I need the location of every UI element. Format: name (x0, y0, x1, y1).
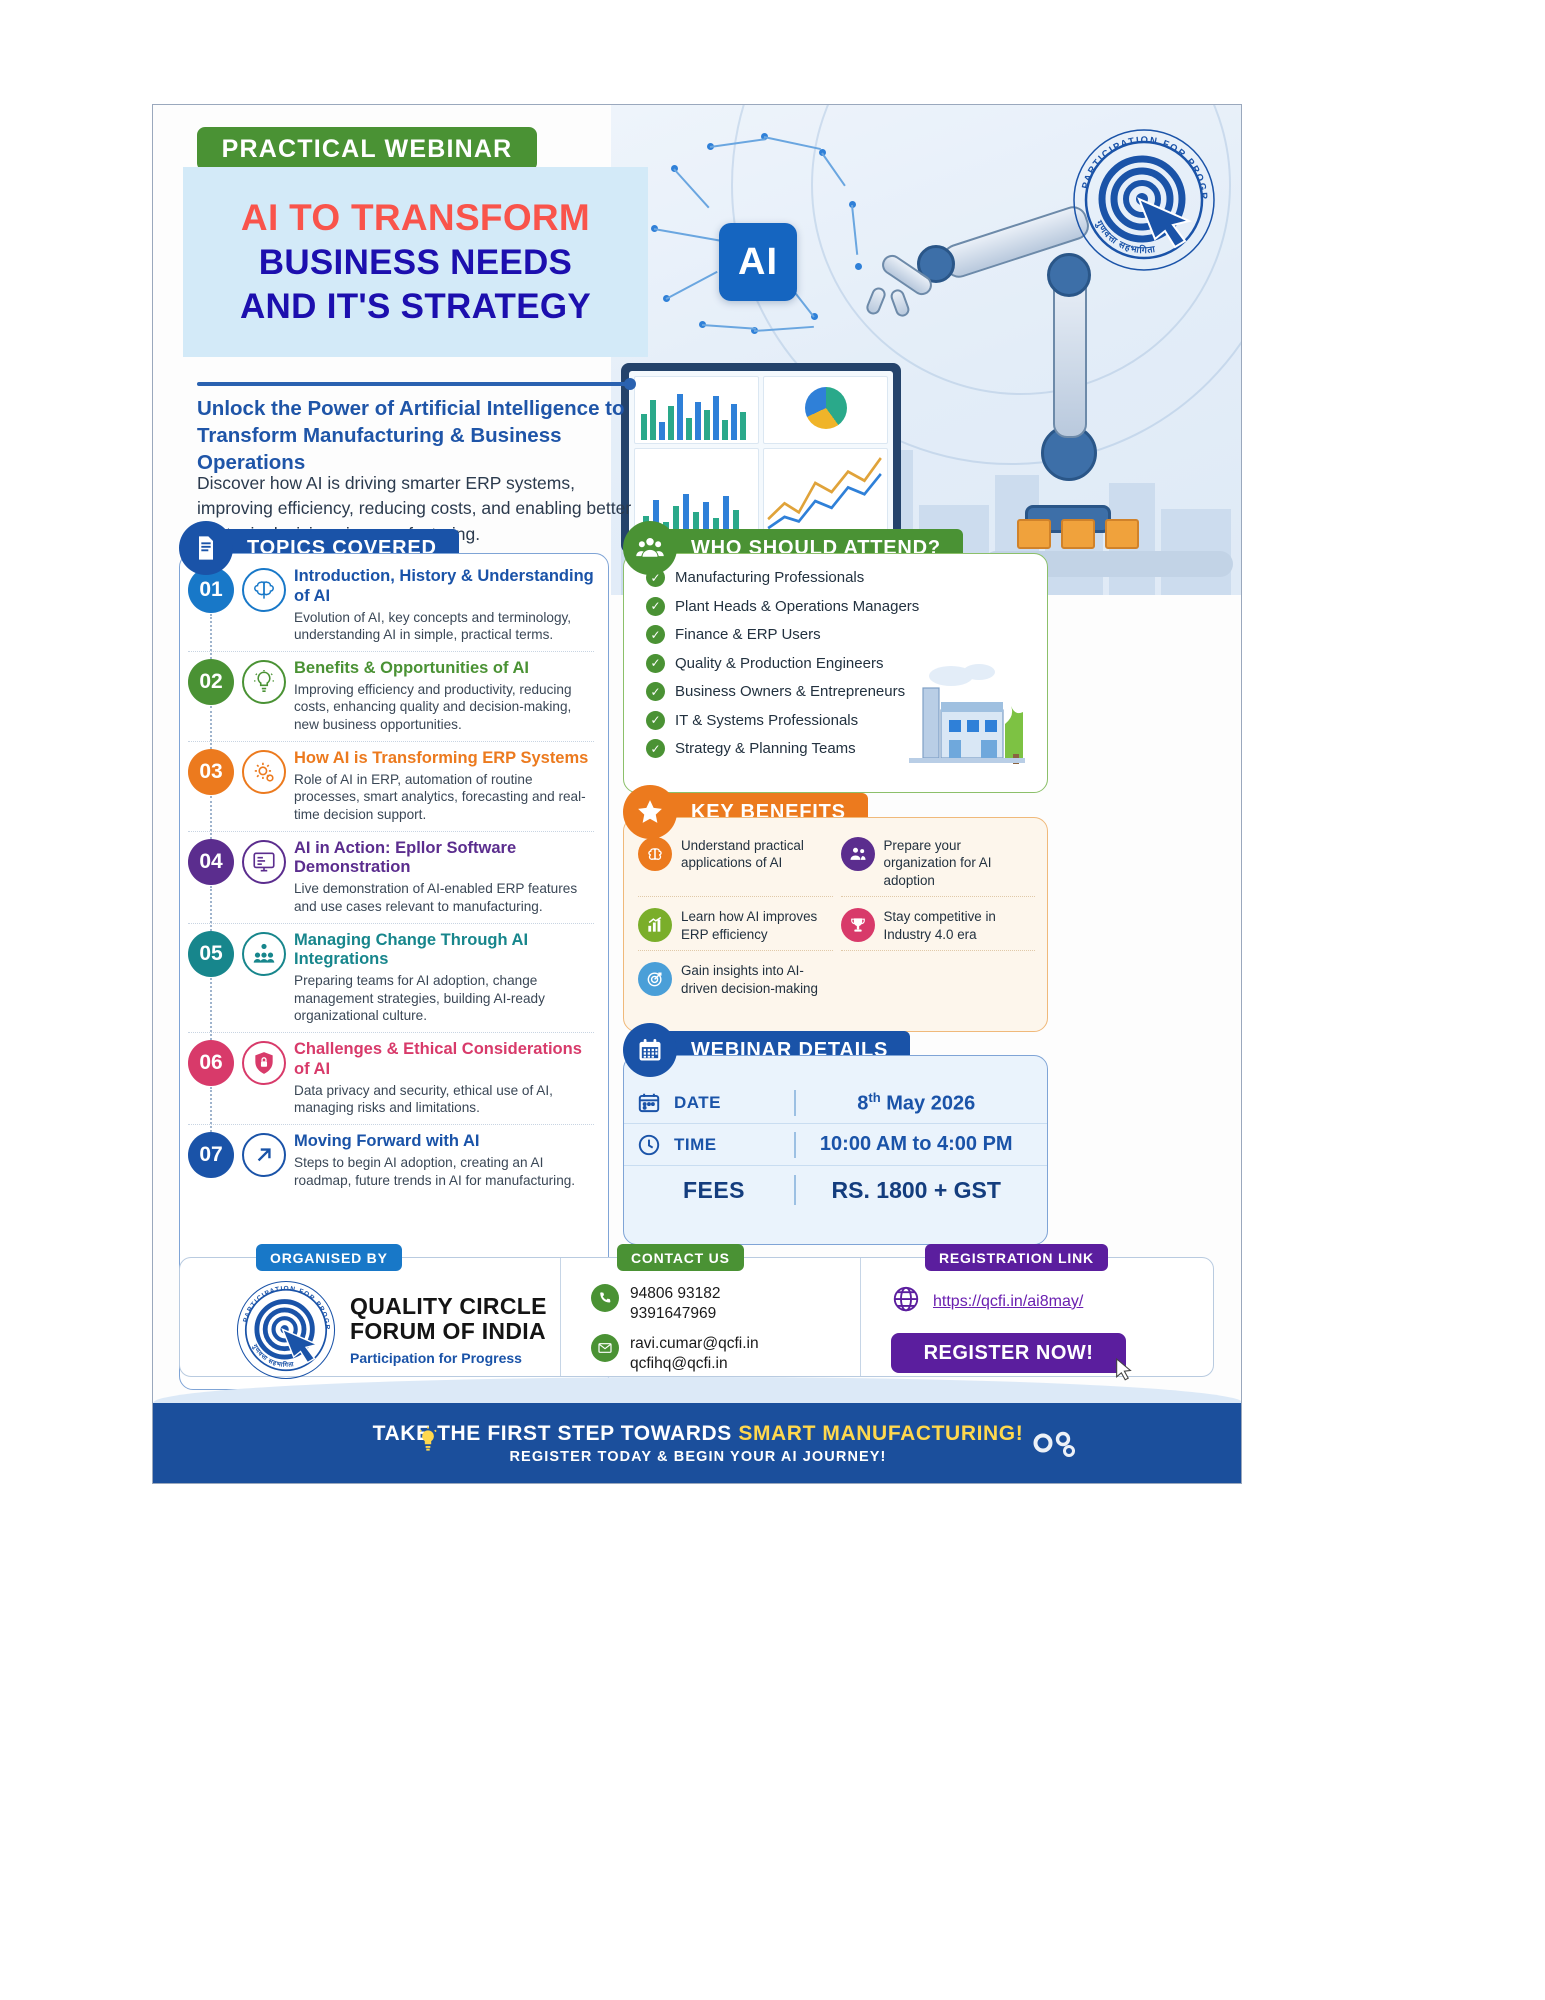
gears-icon (1027, 1427, 1083, 1466)
topic-desc: Steps to begin AI adoption, creating an … (294, 1154, 594, 1189)
benefit-label: Learn how AI improves ERP efficiency (681, 908, 833, 943)
topic-number: 05 (188, 931, 234, 977)
document-icon (179, 521, 233, 575)
svg-text:PARTICIPATION FOR PROGRESS: PARTICIPATION FOR PROGRESS (234, 1278, 331, 1331)
attend-label: Plant Heads & Operations Managers (675, 598, 919, 615)
globe-icon (891, 1284, 921, 1319)
benefit-item: Prepare your organization for AI adoptio… (841, 830, 1036, 897)
benefits-grid-spacer (841, 955, 1036, 1004)
topics-list: 01 Introduction, History & Understanding… (180, 554, 608, 1204)
envelope-icon (591, 1334, 619, 1362)
topic-number: 07 (188, 1132, 234, 1178)
qcfi-logo-footer: PARTICIPATION FOR PROGRESS गुणवत्ता सहभा… (234, 1278, 338, 1382)
attend-card: ✓ Manufacturing Professionals ✓ Plant He… (623, 553, 1048, 793)
register-now-button[interactable]: REGISTER NOW! (891, 1333, 1126, 1373)
topic-title: Moving Forward with AI (294, 1132, 594, 1152)
org-name-line-1: QUALITY CIRCLE (350, 1294, 547, 1319)
benefit-label: Stay competitive in Industry 4.0 era (884, 908, 1036, 943)
list-item: ✓ Manufacturing Professionals (646, 568, 1047, 587)
benefit-item: Learn how AI improves ERP efficiency (638, 901, 833, 951)
organised-by-tag: ORGANISED BY (256, 1244, 402, 1271)
check-icon: ✓ (646, 711, 665, 730)
registration-section: REGISTRATION LINK https://qcfi.in/ai8may… (860, 1258, 1213, 1376)
benefit-item: Gain insights into AI-driven decision-ma… (638, 955, 833, 1004)
chart-up-icon (638, 908, 672, 942)
calendar-icon (623, 1023, 677, 1077)
attend-label: Quality & Production Engineers (675, 655, 883, 672)
date-ordinal: th (868, 1090, 880, 1105)
lightbulb-icon (242, 660, 286, 704)
lightbulb-icon (415, 1425, 441, 1462)
topic-item: 07 Moving Forward with AI Steps to begin… (188, 1124, 594, 1196)
topic-title: Challenges & Ethical Considerations of A… (294, 1040, 594, 1080)
contact-us-tag: CONTACT US (617, 1244, 744, 1271)
ai-chip-badge: AI (719, 223, 797, 301)
benefit-label: Understand practical applications of AI (681, 837, 833, 872)
time-value: 10:00 AM to 4:00 PM (796, 1133, 1038, 1156)
topic-desc: Improving efficiency and productivity, r… (294, 681, 594, 734)
date-value: 8th May 2026 (796, 1090, 1038, 1116)
phone-line-2: 9391647969 (630, 1304, 721, 1324)
phone-numbers: 94806 93182 9391647969 (630, 1284, 721, 1325)
target-icon (638, 962, 672, 996)
topic-title: Managing Change Through AI Integrations (294, 931, 594, 971)
topic-desc: Role of AI in ERP, automation of routine… (294, 771, 594, 824)
attend-label: Finance & ERP Users (675, 626, 821, 643)
people-group-icon (242, 932, 286, 976)
details-card: DATE 8th May 2026 TIME 10:00 AM to 4:00 … (623, 1055, 1048, 1245)
detail-row-fees: FEES RS. 1800 + GST (624, 1166, 1047, 1214)
banner-line-2: REGISTER TODAY & BEGIN YOUR AI JOURNEY! (509, 1449, 886, 1465)
fees-value: RS. 1800 + GST (796, 1177, 1038, 1204)
benefit-label: Gain insights into AI-driven decision-ma… (681, 962, 833, 997)
attend-label: Manufacturing Professionals (675, 569, 864, 586)
title-line-3: AND IT'S STRATEGY (240, 287, 591, 327)
title-line-2: BUSINESS NEEDS (259, 243, 572, 283)
fees-label: FEES (634, 1177, 794, 1204)
benefit-item: Understand practical applications of AI (638, 830, 833, 897)
date-label: DATE (664, 1093, 794, 1113)
email-row[interactable]: ravi.cumar@qcfi.in qcfihq@qcfi.in (591, 1334, 860, 1375)
bottom-banner: TAKE THE FIRST STEP TOWARDS SMART MANUFA… (153, 1403, 1242, 1483)
registration-url[interactable]: https://qcfi.in/ai8may/ (933, 1293, 1083, 1311)
org-name-line-2: FORUM OF INDIA (350, 1319, 547, 1344)
footer-bar: ORGANISED BY PARTICIPATION FOR PROGRESS … (179, 1257, 1214, 1377)
detail-row-date: DATE 8th May 2026 (624, 1082, 1047, 1124)
email-addresses: ravi.cumar@qcfi.in qcfihq@qcfi.in (630, 1334, 759, 1375)
banner-line-1-highlight: SMART MANUFACTURING! (738, 1422, 1023, 1445)
list-item: ✓ Plant Heads & Operations Managers (646, 597, 1047, 616)
registration-url-row[interactable]: https://qcfi.in/ai8may/ (891, 1284, 1213, 1319)
check-icon: ✓ (646, 625, 665, 644)
topic-number: 02 (188, 659, 234, 705)
benefits-grid: Understand practical applications of AI … (624, 818, 1047, 1004)
title-block: AI TO TRANSFORM BUSINESS NEEDS AND IT'S … (183, 167, 648, 357)
title-divider (197, 382, 627, 386)
cursor-arrow-icon (1113, 1357, 1135, 1388)
subtitle-line-2: Transform Manufacturing & Business Opera… (197, 422, 667, 476)
brain-icon (242, 568, 286, 612)
poster-page: AI (152, 104, 1242, 1484)
phone-icon (591, 1284, 619, 1312)
topic-item: 04 AI in Action: Epllor Software Demonst… (188, 831, 594, 923)
topic-number: 06 (188, 1040, 234, 1086)
subtitle: Unlock the Power of Artificial Intellige… (197, 395, 667, 476)
topic-number: 04 (188, 839, 234, 885)
time-label: TIME (664, 1135, 794, 1155)
practical-webinar-badge: PRACTICAL WEBINAR (197, 127, 537, 171)
org-tagline: Participation for Progress (350, 1350, 547, 1366)
topic-desc: Preparing teams for AI adoption, change … (294, 972, 594, 1025)
benefit-item: Stay competitive in Industry 4.0 era (841, 901, 1036, 951)
topic-title: How AI is Transforming ERP Systems (294, 749, 594, 769)
qcfi-logo-header: PARTICIPATION FOR PROGRESS गुणवत्ता सहभा… (1069, 125, 1219, 275)
topic-desc: Data privacy and security, ethical use o… (294, 1082, 594, 1117)
banner-line-1: TAKE THE FIRST STEP TOWARDS SMART MANUFA… (373, 1422, 1024, 1446)
topic-item: 06 Challenges & Ethical Considerations o… (188, 1032, 594, 1124)
registration-link-tag: REGISTRATION LINK (925, 1244, 1108, 1271)
svg-text:PARTICIPATION FOR PROGRESS: PARTICIPATION FOR PROGRESS (1069, 125, 1209, 201)
topic-item: 05 Managing Change Through AI Integratio… (188, 923, 594, 1033)
title-line-1: AI TO TRANSFORM (241, 197, 590, 239)
topic-item: 03 How AI is Transforming ERP Systems Ro… (188, 741, 594, 831)
attend-label: Business Owners & Entrepreneurs (675, 683, 905, 700)
people-ai-icon (841, 837, 875, 871)
subtitle-line-1: Unlock the Power of Artificial Intellige… (197, 395, 667, 422)
topic-title: Introduction, History & Understanding of… (294, 567, 594, 607)
check-icon: ✓ (646, 654, 665, 673)
gear-cog-icon (242, 750, 286, 794)
list-item: ✓ Finance & ERP Users (646, 625, 1047, 644)
org-text-block: QUALITY CIRCLE FORUM OF INDIA Participat… (350, 1294, 547, 1367)
date-rest: May 2026 (881, 1092, 976, 1114)
arrow-up-right-icon (242, 1133, 286, 1177)
trophy-icon (841, 908, 875, 942)
monitor-demo-icon (242, 840, 286, 884)
contact-section: CONTACT US 94806 93182 9391647969 (560, 1258, 860, 1376)
phone-row[interactable]: 94806 93182 9391647969 (591, 1284, 860, 1325)
topic-item: 02 Benefits & Opportunities of AI Improv… (188, 651, 594, 741)
topic-desc: Evolution of AI, key concepts and termin… (294, 609, 594, 644)
topic-title: AI in Action: Epllor Software Demonstrat… (294, 839, 594, 879)
detail-row-time: TIME 10:00 AM to 4:00 PM (624, 1124, 1047, 1166)
benefit-label: Prepare your organization for AI adoptio… (884, 837, 1036, 889)
star-icon (623, 785, 677, 839)
calendar-small-icon (634, 1090, 664, 1116)
topic-number: 03 (188, 749, 234, 795)
phone-line-1: 94806 93182 (630, 1284, 721, 1304)
attend-label: IT & Systems Professionals (675, 712, 858, 729)
organised-by-section: ORGANISED BY PARTICIPATION FOR PROGRESS … (180, 1258, 560, 1376)
check-icon: ✓ (646, 682, 665, 701)
attend-label: Strategy & Planning Teams (675, 740, 856, 757)
check-icon: ✓ (646, 597, 665, 616)
topic-title: Benefits & Opportunities of AI (294, 659, 594, 679)
shield-lock-icon (242, 1041, 286, 1085)
check-icon: ✓ (646, 739, 665, 758)
brain-icon (638, 837, 672, 871)
benefits-card: Understand practical applications of AI … (623, 817, 1048, 1032)
clock-icon (634, 1132, 664, 1158)
email-line-2: qcfihq@qcfi.in (630, 1354, 759, 1374)
people-icon (623, 521, 677, 575)
topic-item: 01 Introduction, History & Understanding… (188, 560, 594, 651)
email-line-1: ravi.cumar@qcfi.in (630, 1334, 759, 1354)
date-day: 8 (857, 1092, 868, 1114)
topic-desc: Live demonstration of AI-enabled ERP fea… (294, 880, 594, 915)
factory-illustration (893, 658, 1033, 778)
